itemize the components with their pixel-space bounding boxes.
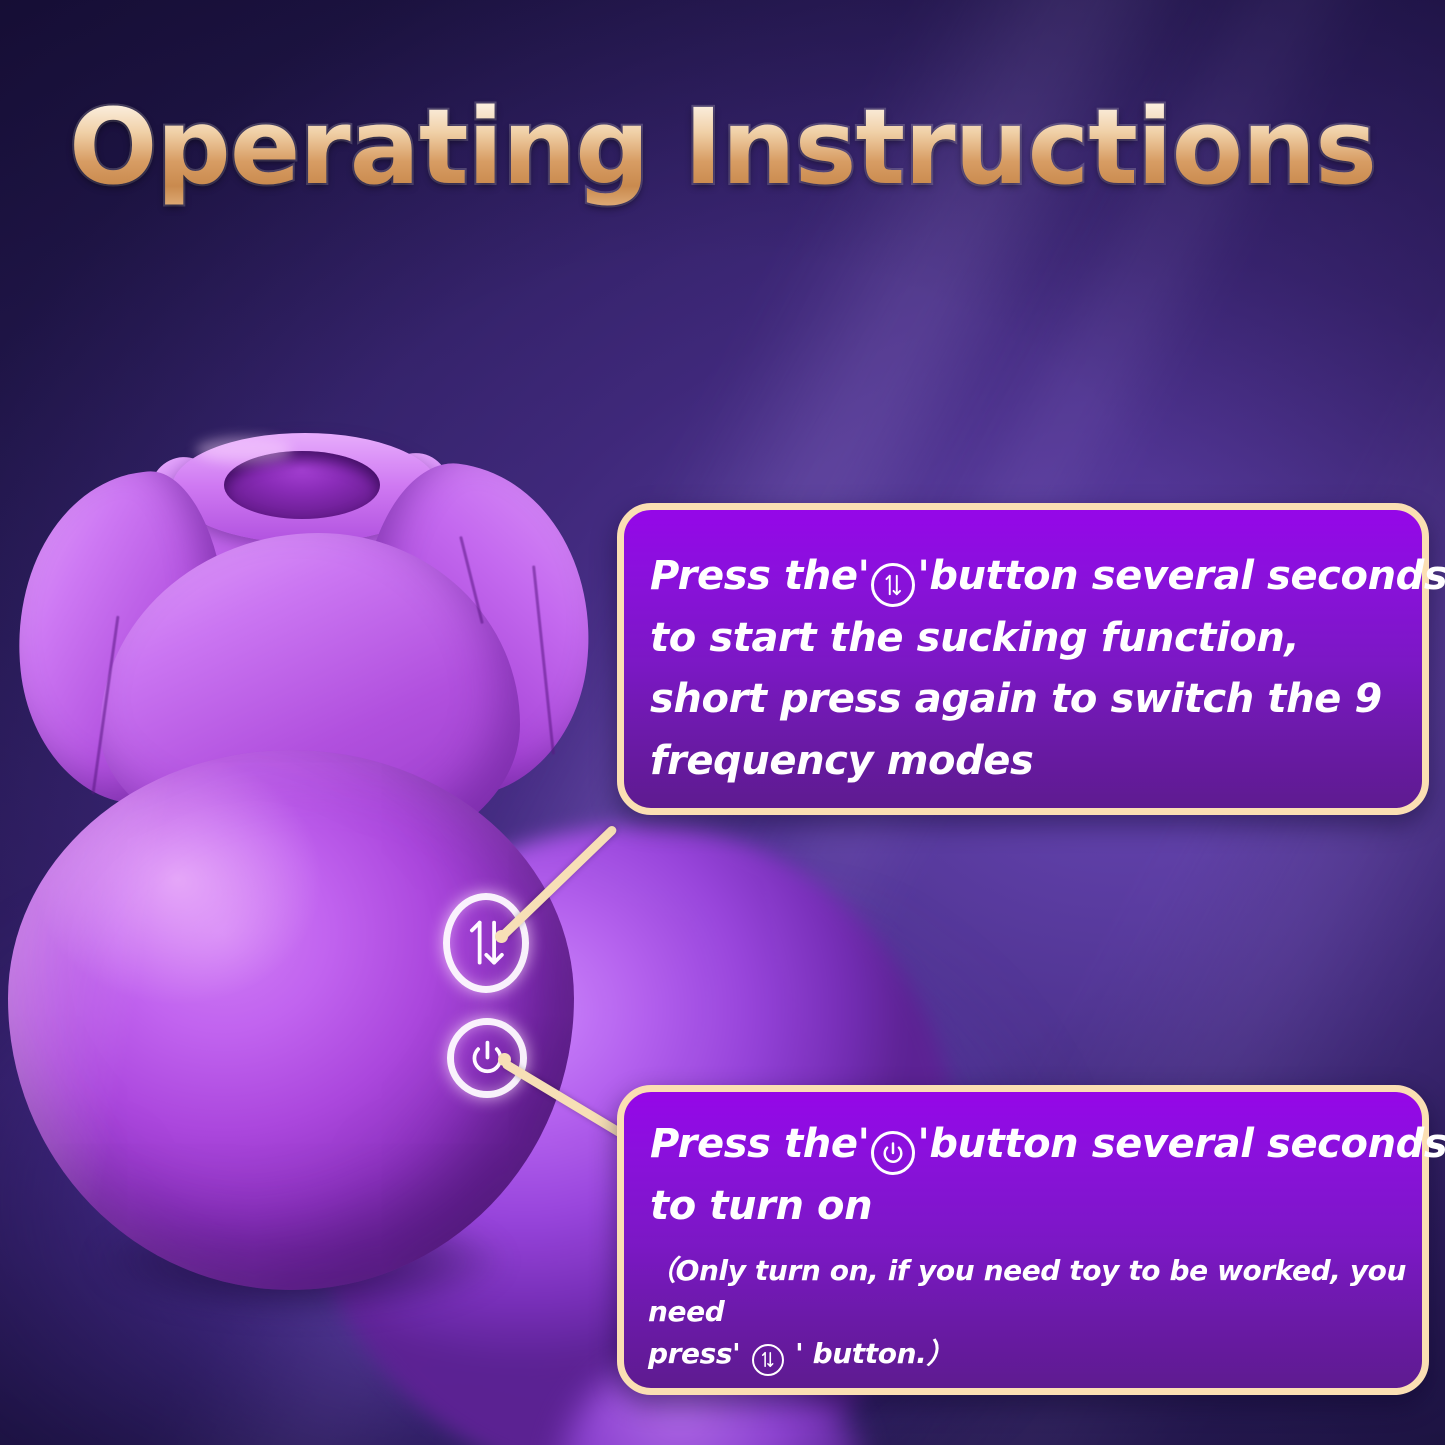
power-callout-note: （Only turn on, if you need toy to be wor… [648,1250,1408,1376]
power-callout-line2: to turn on [650,1183,872,1229]
up-down-arrows-icon [871,563,915,607]
mode-callout-line1-after: 'button several seconds [917,553,1445,599]
power-callout-note-line2-before: press' [648,1337,740,1370]
mode-callout-line1-before: Press the' [650,553,869,599]
product-illustration [0,415,640,1315]
leader-anchor-mode [495,930,508,943]
rose-core-highlight [196,437,292,463]
power-callout-note-line1: （Only turn on, if you need toy to be wor… [648,1254,1406,1328]
instruction-graphic: Operating Instructions Operating Instruc… [0,0,1445,1445]
power-callout-note-line2-after: ' button.） [795,1337,954,1370]
mode-callout-text: Press the''button several seconds to sta… [650,546,1412,792]
up-down-arrows-icon [464,916,509,969]
up-down-arrows-icon [752,1344,784,1376]
power-callout-line1-after: 'button several seconds [917,1121,1445,1167]
leader-anchor-power [498,1053,511,1066]
mode-callout-line4: modes [887,738,1034,784]
power-icon [871,1131,915,1175]
power-callout-text: Press the''button several seconds to tur… [650,1114,1412,1237]
power-button[interactable] [447,1018,527,1098]
mode-button[interactable] [443,893,529,993]
power-callout-line1-before: Press the' [650,1121,869,1167]
page-title: Operating Instructions [0,86,1445,208]
power-callout: Press the''button several seconds to tur… [617,1085,1429,1395]
mode-callout: Press the''button several seconds to sta… [617,503,1429,815]
